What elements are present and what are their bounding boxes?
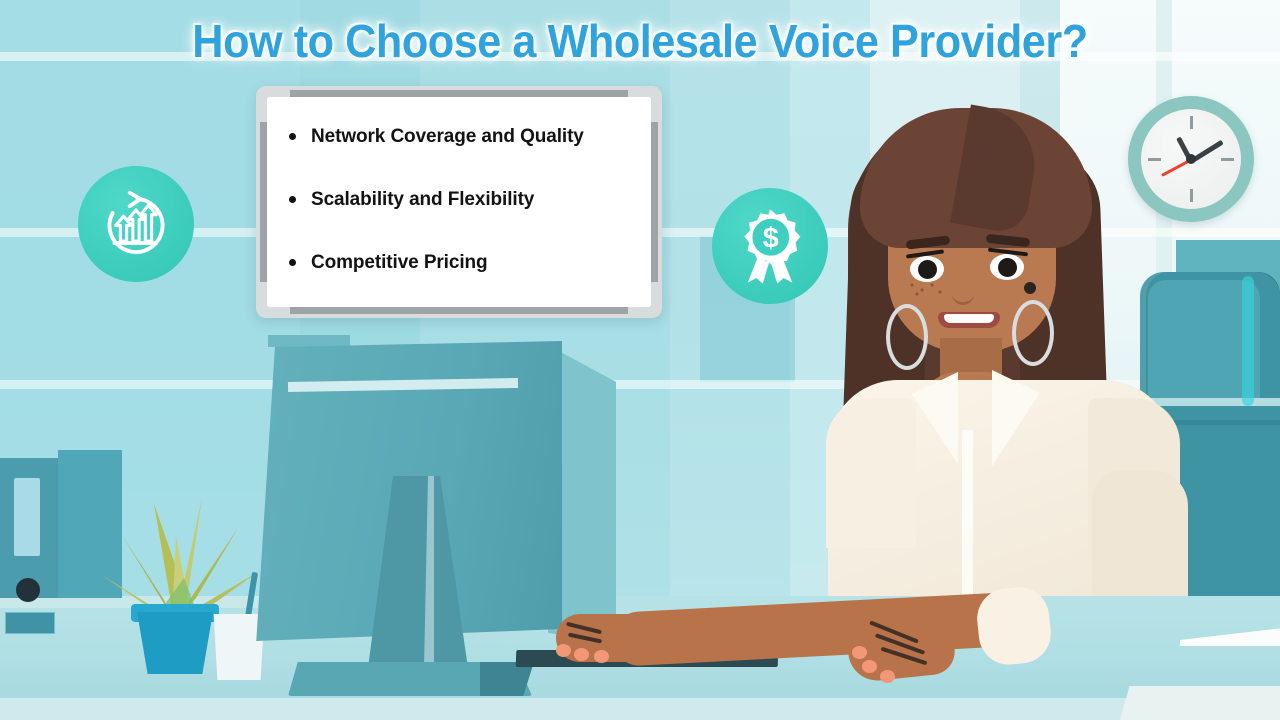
whiteboard-surface: Network Coverage and Quality Scalability… [267, 97, 651, 307]
shoulder-left [826, 398, 916, 548]
pupil-left [918, 260, 937, 279]
earring-right [1012, 300, 1054, 366]
earring-left [886, 304, 928, 370]
bullet-icon [289, 133, 296, 140]
ear-stud [1024, 282, 1036, 294]
freckles [908, 282, 946, 298]
bullet-icon [289, 259, 296, 266]
list-item-label: Competitive Pricing [311, 252, 488, 273]
pupil-right [998, 258, 1017, 277]
bullet-icon [289, 196, 296, 203]
fingernail [556, 644, 571, 657]
clock-tick-3 [1221, 158, 1234, 161]
fingernail [574, 648, 589, 661]
fingernail [880, 670, 895, 683]
desk-paper-stack [1120, 686, 1280, 720]
list-item: Competitive Pricing [311, 253, 651, 274]
whiteboard-frame-bottom [290, 307, 628, 314]
illustration-canvas: How to Choose a Wholesale Voice Provider… [0, 0, 1280, 720]
list-item: Scalability and Flexibility [311, 190, 651, 211]
teeth [944, 314, 994, 323]
whiteboard-frame-left [260, 122, 267, 282]
binder-label [14, 478, 40, 556]
office-chair-rim [1242, 276, 1254, 406]
list-item-label: Network Coverage and Quality [311, 126, 584, 147]
fingernail [852, 646, 867, 659]
whiteboard-bullet-list: Network Coverage and Quality Scalability… [267, 97, 651, 274]
list-item-label: Scalability and Flexibility [311, 189, 534, 210]
fingernail [862, 660, 877, 673]
fingernail [594, 650, 609, 663]
whiteboard: Network Coverage and Quality Scalability… [256, 86, 662, 318]
plant-pot [137, 612, 213, 674]
whiteboard-frame-top [290, 90, 628, 97]
monitor-top-bar [268, 335, 350, 347]
binder-hole [16, 578, 40, 602]
whiteboard-frame-right [651, 122, 658, 282]
binder-tag [5, 612, 55, 634]
desk-front-edge [0, 698, 1280, 720]
growth-arrows-icon [78, 166, 194, 282]
list-item: Network Coverage and Quality [311, 127, 651, 148]
page-title: How to Choose a Wholesale Voice Provider… [38, 14, 1241, 68]
